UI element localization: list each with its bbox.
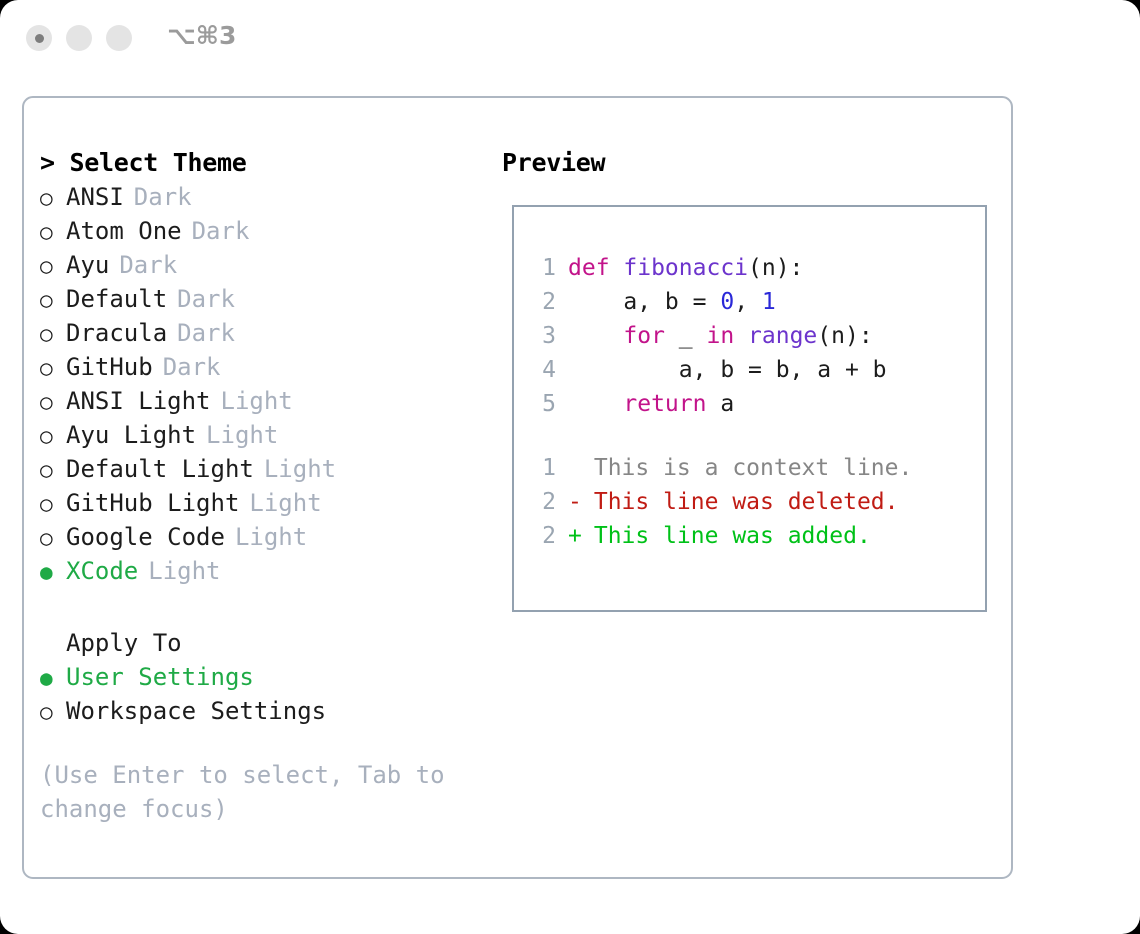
- diff-sign: [568, 451, 580, 485]
- apply-to-option-label: Workspace Settings: [66, 697, 326, 725]
- theme-variant-label: Dark: [177, 319, 235, 347]
- theme-name-label: ANSI: [66, 183, 124, 211]
- code-token: ,: [734, 289, 762, 315]
- preview-box: 1def fibonacci(n):2 a, b = 0, 13 for _ i…: [512, 205, 987, 612]
- window-dot-active-icon[interactable]: [26, 25, 52, 51]
- theme-name-label: Default Light: [66, 455, 254, 483]
- theme-name-label: ANSI Light: [66, 387, 211, 415]
- radio-unselected-icon[interactable]: ○: [40, 249, 66, 283]
- apply-to-option-label: User Settings: [66, 663, 254, 691]
- code-line-number: 2: [530, 285, 556, 319]
- theme-list-item[interactable]: ○DefaultDark: [40, 282, 480, 316]
- code-token: 1: [762, 289, 776, 315]
- diff-line: 2- This line was deleted.: [530, 485, 979, 519]
- theme-list-item[interactable]: ●XCodeLight: [40, 554, 480, 588]
- title-bar: ⌥⌘3: [0, 0, 1140, 78]
- theme-list-column: > Select Theme ○ANSIDark○Atom OneDark○Ay…: [40, 146, 480, 588]
- theme-name-label: Dracula: [66, 319, 167, 347]
- diff-text: This is a context line.: [580, 455, 912, 481]
- code-line: 2 a, b = 0, 1: [530, 285, 979, 319]
- code-token: [568, 323, 623, 349]
- code-line-number: 4: [530, 353, 556, 387]
- theme-variant-label: Dark: [134, 183, 192, 211]
- radio-unselected-icon[interactable]: ○: [40, 385, 66, 419]
- code-token: a, b =: [568, 289, 720, 315]
- code-line: 4 a, b = b, a + b: [530, 353, 979, 387]
- window-dot-2-icon[interactable]: [66, 25, 92, 51]
- code-token: 0: [720, 289, 734, 315]
- theme-variant-label: Dark: [192, 217, 250, 245]
- theme-variant-label: Light: [249, 489, 321, 517]
- code-line: 3 for _ in range(n):: [530, 319, 979, 353]
- code-token: (n):: [748, 255, 803, 281]
- window-dot-active-inner: [35, 34, 44, 43]
- diff-line-number: 1: [530, 451, 556, 485]
- theme-list-item[interactable]: ○GitHubDark: [40, 350, 480, 384]
- radio-unselected-icon[interactable]: ○: [40, 419, 66, 453]
- theme-variant-label: Dark: [177, 285, 235, 313]
- code-token: a, b = b, a + b: [568, 357, 887, 383]
- code-token: _: [665, 323, 707, 349]
- theme-list-item[interactable]: ○Default LightLight: [40, 452, 480, 486]
- app-root: ⌥⌘3 > Select Theme ○ANSIDark○Atom OneDar…: [0, 0, 1140, 934]
- diff-text: This line was added.: [580, 523, 871, 549]
- apply-to-group: Apply To ●User Settings○Workspace Settin…: [40, 626, 480, 728]
- code-line-number: 3: [530, 319, 556, 353]
- code-line-number: 1: [530, 251, 556, 285]
- theme-name-label: GitHub: [66, 353, 153, 381]
- theme-variant-label: Dark: [119, 251, 177, 279]
- theme-list-item[interactable]: ○Google CodeLight: [40, 520, 480, 554]
- code-token: def: [568, 255, 623, 281]
- theme-name-label: Google Code: [66, 523, 225, 551]
- theme-name-label: Atom One: [66, 217, 182, 245]
- diff-sign: +: [568, 519, 580, 553]
- window-dot-3-icon[interactable]: [106, 25, 132, 51]
- apply-to-header: Apply To: [40, 626, 480, 660]
- diff-line-number: 2: [530, 485, 556, 519]
- radio-unselected-icon[interactable]: ○: [40, 453, 66, 487]
- apply-to-option[interactable]: ●User Settings: [40, 660, 480, 694]
- theme-name-label: GitHub Light: [66, 489, 239, 517]
- radio-unselected-icon[interactable]: ○: [40, 317, 66, 351]
- diff-line-number: 2: [530, 519, 556, 553]
- keyboard-hint-text: (Use Enter to select, Tab to change focu…: [40, 758, 460, 826]
- diff-line: 2+ This line was added.: [530, 519, 979, 553]
- radio-unselected-icon[interactable]: ○: [40, 351, 66, 385]
- theme-list[interactable]: ○ANSIDark○Atom OneDark○AyuDark○DefaultDa…: [40, 180, 480, 588]
- radio-selected-icon[interactable]: ●: [40, 555, 66, 589]
- theme-list-item[interactable]: ○Ayu LightLight: [40, 418, 480, 452]
- radio-unselected-icon[interactable]: ○: [40, 283, 66, 317]
- radio-unselected-icon[interactable]: ○: [40, 487, 66, 521]
- preview-column: Preview 1def fibonacci(n):2 a, b = 0, 13…: [502, 146, 1002, 180]
- window-controls: [26, 25, 132, 51]
- theme-name-label: Default: [66, 285, 167, 313]
- select-theme-header: > Select Theme: [40, 146, 480, 180]
- diff-line: 1 This is a context line.: [530, 451, 979, 485]
- theme-variant-label: Light: [221, 387, 293, 415]
- theme-list-item[interactable]: ○GitHub LightLight: [40, 486, 480, 520]
- theme-name-label: XCode: [66, 557, 138, 585]
- theme-name-label: Ayu Light: [66, 421, 196, 449]
- code-line-number: 5: [530, 387, 556, 421]
- theme-variant-label: Light: [235, 523, 307, 551]
- code-token: (n):: [817, 323, 872, 349]
- theme-variant-label: Light: [264, 455, 336, 483]
- keyboard-shortcut-label: ⌥⌘3: [167, 21, 236, 50]
- theme-variant-label: Light: [148, 557, 220, 585]
- theme-list-item[interactable]: ○DraculaDark: [40, 316, 480, 350]
- radio-unselected-icon[interactable]: ○: [40, 521, 66, 555]
- code-token: return: [623, 391, 706, 417]
- theme-list-item[interactable]: ○Atom OneDark: [40, 214, 480, 248]
- theme-variant-label: Dark: [163, 353, 221, 381]
- radio-unselected-icon[interactable]: ○: [40, 215, 66, 249]
- code-token: [734, 323, 748, 349]
- code-token: fibonacci: [623, 255, 748, 281]
- code-line: 5 return a: [530, 387, 979, 421]
- diff-text: This line was deleted.: [580, 489, 899, 515]
- theme-list-item[interactable]: ○AyuDark: [40, 248, 480, 282]
- code-token: [568, 391, 623, 417]
- code-token: a: [706, 391, 734, 417]
- apply-to-options[interactable]: ●User Settings○Workspace Settings: [40, 660, 480, 728]
- diff-sample: 1 This is a context line.2- This line wa…: [530, 451, 979, 553]
- main-panel: > Select Theme ○ANSIDark○Atom OneDark○Ay…: [22, 96, 1013, 879]
- code-token: in: [706, 323, 734, 349]
- apply-to-option[interactable]: ○Workspace Settings: [40, 694, 480, 728]
- theme-name-label: Ayu: [66, 251, 109, 279]
- radio-selected-icon[interactable]: ●: [40, 661, 66, 695]
- code-token: range: [748, 323, 817, 349]
- radio-unselected-icon[interactable]: ○: [40, 695, 66, 729]
- preview-title: Preview: [502, 146, 1002, 180]
- theme-list-item[interactable]: ○ANSI LightLight: [40, 384, 480, 418]
- code-token: for: [623, 323, 665, 349]
- code-line: 1def fibonacci(n):: [530, 251, 979, 285]
- diff-sign: -: [568, 485, 580, 519]
- code-sample: 1def fibonacci(n):2 a, b = 0, 13 for _ i…: [530, 251, 979, 421]
- theme-variant-label: Light: [206, 421, 278, 449]
- theme-list-item[interactable]: ○ANSIDark: [40, 180, 480, 214]
- radio-unselected-icon[interactable]: ○: [40, 181, 66, 215]
